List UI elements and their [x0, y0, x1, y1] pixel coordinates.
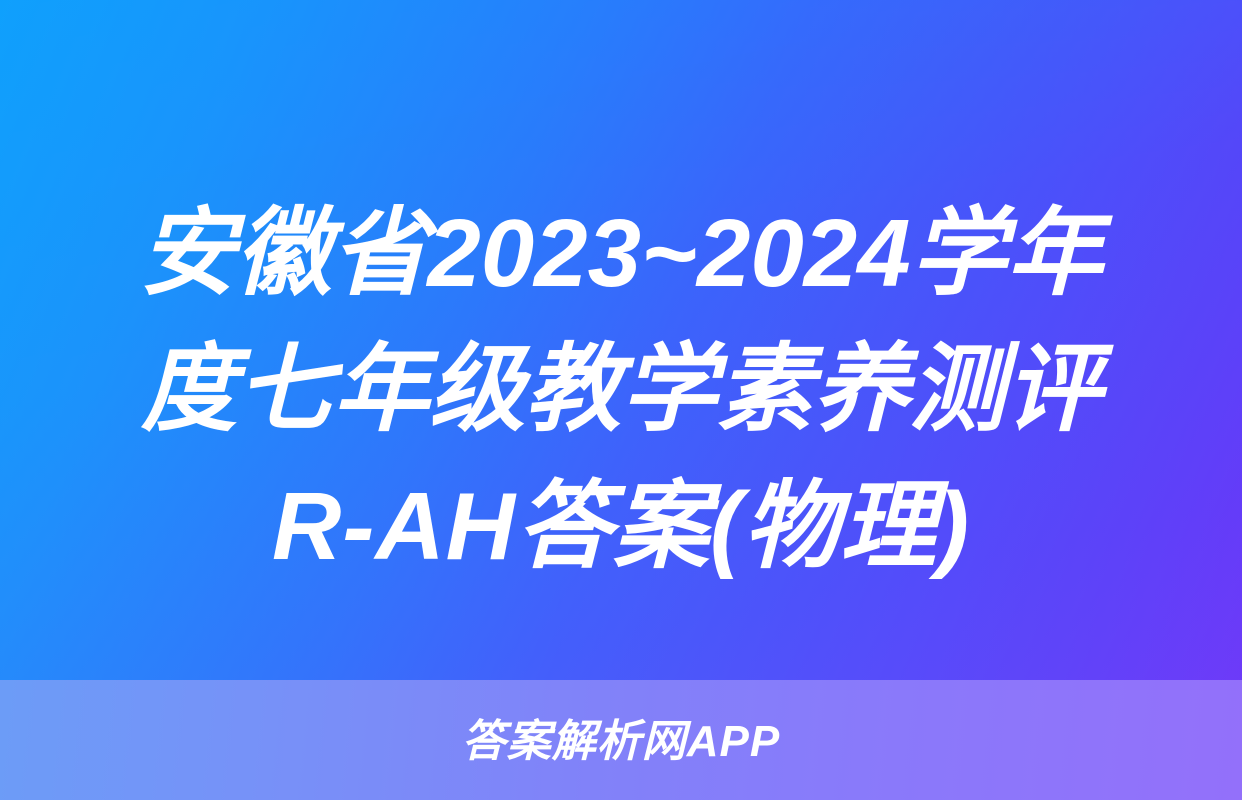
brand-label: 答案解析网APP — [462, 720, 780, 764]
footer-brand-band: 答案解析网APP — [0, 680, 1242, 800]
title-line-2: 度七年级教学素养测评 — [52, 322, 1190, 458]
title-line-3: R-AH答案(物理) — [52, 459, 1190, 595]
cover-card: 安徽省2023~2024学年 度七年级教学素养测评 R-AH答案(物理) 答案解… — [0, 0, 1242, 800]
title-line-1: 安徽省2023~2024学年 — [52, 186, 1190, 322]
page-title: 安徽省2023~2024学年 度七年级教学素养测评 R-AH答案(物理) — [0, 186, 1242, 595]
